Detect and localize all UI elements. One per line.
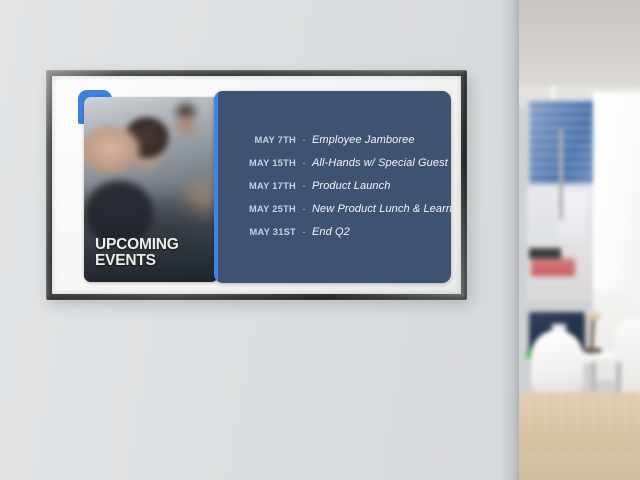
picture-frame: UPCOMING EVENTS MAY 7TH - Employee Jambo… (46, 70, 467, 300)
event-name: New Product Lunch & Learn (312, 203, 451, 215)
event-name: Employee Jamboree (312, 134, 451, 146)
event-date: MAY 15TH (222, 158, 296, 168)
wall-edge-shadow (500, 0, 519, 480)
event-list-item: MAY 25TH - New Product Lunch & Learn (214, 203, 451, 215)
event-separator: - (296, 204, 312, 214)
event-list-item: MAY 7TH - Employee Jamboree (214, 134, 451, 146)
office-scene: UPCOMING EVENTS MAY 7TH - Employee Jambo… (0, 0, 640, 480)
signage-slide: UPCOMING EVENTS MAY 7TH - Employee Jambo… (62, 86, 451, 282)
events-list: MAY 7TH - Employee Jamboree MAY 15TH - A… (214, 91, 451, 283)
event-photo-card: UPCOMING EVENTS (84, 97, 218, 282)
pendant-light (551, 86, 555, 100)
event-date: MAY 31ST (222, 227, 296, 237)
desk-lamp-shade (585, 310, 601, 320)
event-name: Product Launch (312, 180, 451, 192)
ceiling (519, 0, 640, 92)
event-list-item: MAY 15TH - All-Hands w/ Special Guest (214, 157, 451, 169)
city-glass-tower (529, 100, 599, 192)
event-name: All-Hands w/ Special Guest (312, 157, 451, 169)
event-separator: - (296, 158, 312, 168)
sunlit-wall (593, 92, 640, 308)
slide-title: UPCOMING EVENTS (95, 237, 179, 269)
desk-lamp-base (585, 348, 601, 353)
event-separator: - (296, 181, 312, 191)
event-date: MAY 17TH (222, 181, 296, 191)
city-dark-signage (529, 248, 561, 259)
event-date: MAY 7TH (222, 135, 296, 145)
frame-mat: UPCOMING EVENTS MAY 7TH - Employee Jambo… (52, 76, 461, 294)
event-list-item: MAY 17TH - Product Launch (214, 180, 451, 192)
event-list-item: MAY 31ST - End Q2 (214, 226, 451, 238)
event-name: End Q2 (312, 226, 451, 238)
office-room-view (519, 0, 640, 480)
event-separator: - (296, 135, 312, 145)
window (527, 100, 602, 300)
slide-title-line-1: UPCOMING (95, 237, 179, 253)
city-red-building (531, 258, 575, 276)
slide-title-line-2: EVENTS (95, 253, 179, 269)
event-date: MAY 25TH (222, 204, 296, 214)
window-mullion (559, 130, 563, 220)
wood-floor-foreground (519, 452, 640, 480)
event-separator: - (296, 227, 312, 237)
events-panel: MAY 7TH - Employee Jamboree MAY 15TH - A… (214, 91, 451, 283)
